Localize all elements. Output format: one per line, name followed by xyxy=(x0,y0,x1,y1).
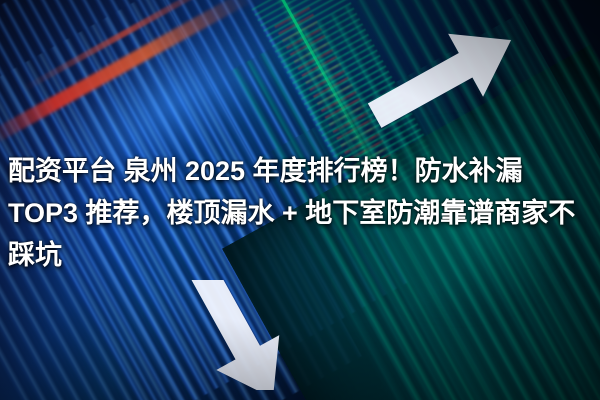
headline-text: 配资平台 泉州 2025 年度排行榜！防水补漏 TOP3 推荐，楼顶漏水 + 地… xyxy=(8,150,592,276)
image-canvas: 配资平台 泉州 2025 年度排行榜！防水补漏 TOP3 推荐，楼顶漏水 + 地… xyxy=(0,0,600,400)
